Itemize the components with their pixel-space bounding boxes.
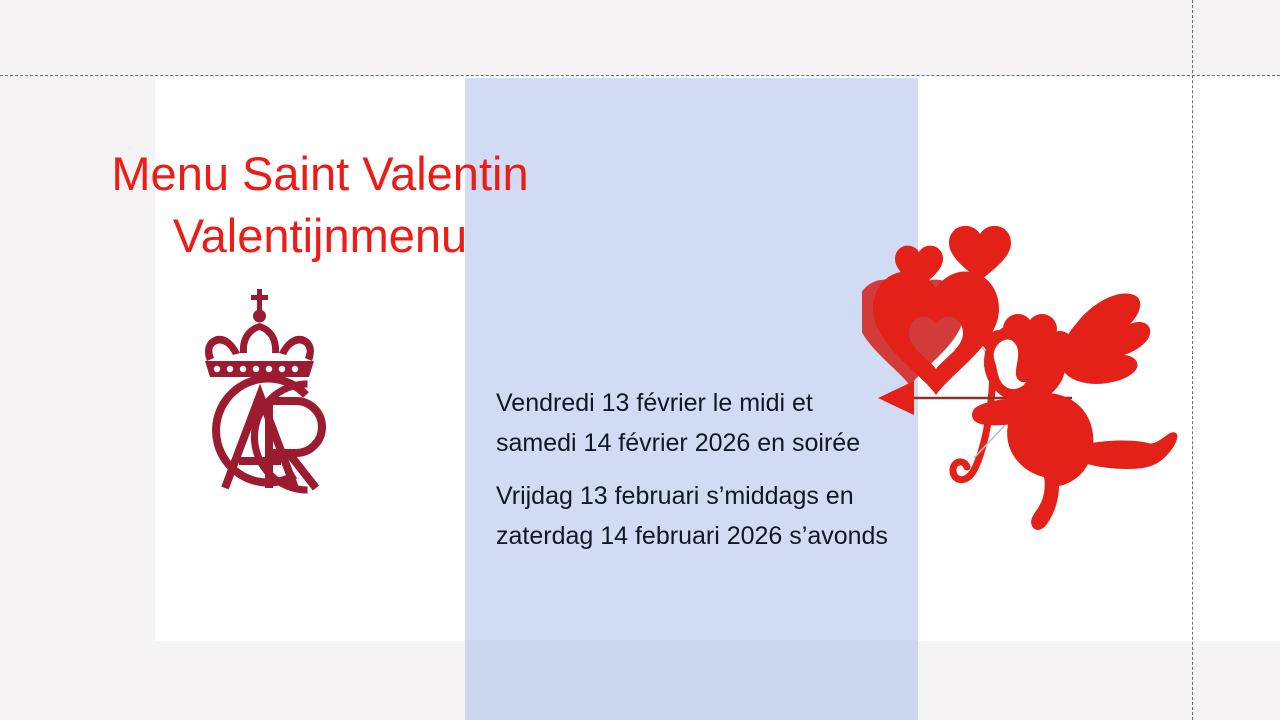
royal-crown-monogram-logo — [183, 283, 338, 508]
cupid-wing — [1060, 294, 1150, 384]
cupid-head — [984, 314, 1073, 403]
horizontal-guide-line — [0, 75, 1280, 76]
cupid-with-bow-and-hearts — [862, 212, 1192, 532]
body-paragraph-french: Vendredi 13 février le midi et samedi 14… — [496, 383, 896, 463]
vertical-guide-line — [1192, 0, 1193, 720]
cupid-body — [972, 393, 1177, 530]
slide-canvas: Menu Saint Valentin Valentijnmenu Vendre… — [0, 0, 1280, 720]
title-line-dutch: Valentijnmenu — [60, 205, 580, 267]
slide-title: Menu Saint Valentin Valentijnmenu — [60, 143, 580, 267]
title-line-french: Menu Saint Valentin — [60, 143, 580, 205]
body-paragraph-dutch: Vrijdag 13 februari s’middags en zaterda… — [496, 476, 896, 556]
blue-accent-panel-overflow — [465, 640, 918, 720]
slide-body-text: Vendredi 13 février le midi et samedi 14… — [496, 383, 896, 556]
